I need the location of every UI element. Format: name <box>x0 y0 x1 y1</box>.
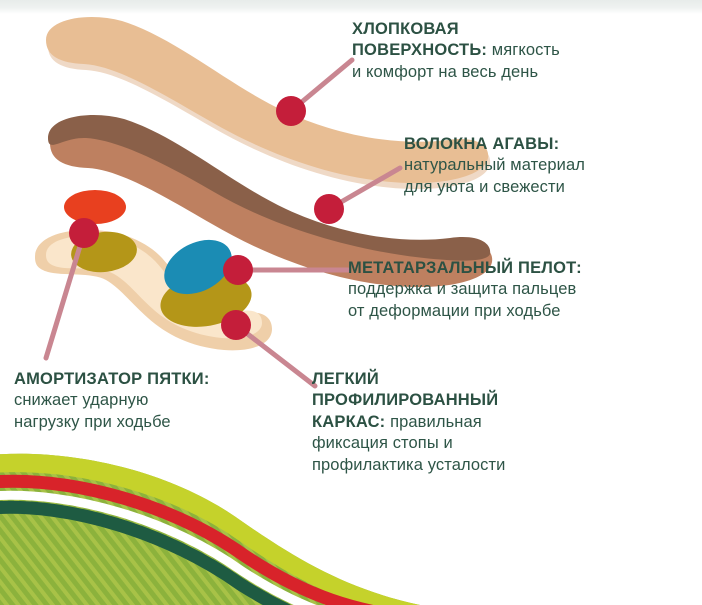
callout-agave-fibers: ВОЛОКНА АГАВЫ: натуральный материал для … <box>404 134 694 198</box>
marker-frame[interactable] <box>221 310 251 340</box>
callout-cotton-body-line1: мягкость <box>487 41 560 59</box>
heel-shock-pad <box>64 190 126 224</box>
callout-metatarsal-heading: МЕТАТАРЗАЛЬНЫЙ ПЕЛОТ: <box>348 258 698 279</box>
callout-cotton-heading-line1: ХЛОПКОВАЯ <box>352 19 682 40</box>
marker-agave[interactable] <box>314 194 344 224</box>
callout-frame-heading-line3: КАРКАС: <box>312 413 385 431</box>
callout-frame-heading-line2: ПРОФИЛИРОВАННЫЙ <box>312 390 612 411</box>
callout-agave-heading: ВОЛОКНА АГАВЫ: <box>404 134 694 155</box>
marker-heel[interactable] <box>69 218 99 248</box>
callout-agave-body-line1: натуральный материал <box>404 155 694 176</box>
callout-lightweight-frame: ЛЕГКИЙ ПРОФИЛИРОВАННЫЙ КАРКАС: правильна… <box>312 369 612 476</box>
callout-metatarsal-body-line2: от деформации при ходьбе <box>348 301 698 322</box>
callout-frame-body-line3: профилактика усталости <box>312 455 612 476</box>
callout-heel-heading: АМОРТИЗАТОР ПЯТКИ: <box>14 369 314 390</box>
callout-cotton-heading-line2: ПОВЕРХНОСТЬ: <box>352 41 487 59</box>
callout-agave-body-line2: для уюта и свежести <box>404 177 694 198</box>
callout-frame-body-line2: фиксация стопы и <box>312 433 612 454</box>
infographic-canvas: ХЛОПКОВАЯ ПОВЕРХНОСТЬ: мягкость и комфор… <box>0 0 702 605</box>
callout-heel-body-line2: нагрузку при ходьбе <box>14 412 314 433</box>
marker-cotton[interactable] <box>276 96 306 126</box>
callout-metatarsal-pad: МЕТАТАРЗАЛЬНЫЙ ПЕЛОТ: поддержка и защита… <box>348 258 698 322</box>
callout-heel-shock-absorber: АМОРТИЗАТОР ПЯТКИ: снижает ударную нагру… <box>14 369 314 433</box>
callout-heel-body-line1: снижает ударную <box>14 390 314 411</box>
marker-metatarsal[interactable] <box>223 255 253 285</box>
callout-metatarsal-body-line1: поддержка и защита пальцев <box>348 279 698 300</box>
callout-frame-heading-line1: ЛЕГКИЙ <box>312 369 612 390</box>
callout-cotton-body-line2: и комфорт на весь день <box>352 62 682 83</box>
callout-frame-body-line1: правильная <box>385 413 481 431</box>
callout-cotton-surface: ХЛОПКОВАЯ ПОВЕРХНОСТЬ: мягкость и комфор… <box>352 19 682 83</box>
